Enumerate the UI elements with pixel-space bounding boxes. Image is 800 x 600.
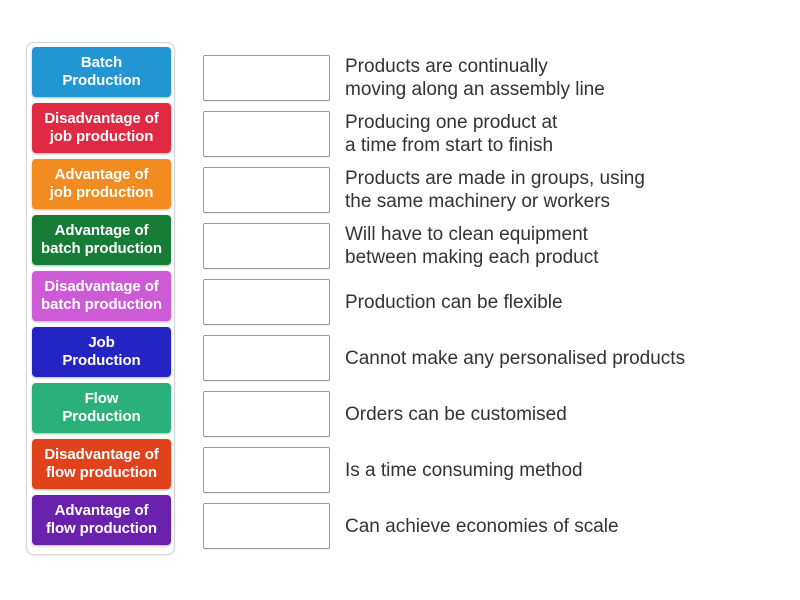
match-row: Products are continually moving along an… <box>203 55 793 101</box>
row-prompt-text: Products are continually moving along an… <box>345 55 605 101</box>
tile-label: Job Production <box>35 334 168 370</box>
row-prompt-text: Will have to clean equipment between mak… <box>345 223 599 269</box>
match-row: Can achieve economies of scale <box>203 503 793 549</box>
dropzone-5[interactable] <box>203 279 330 325</box>
row-prompt-text: Can achieve economies of scale <box>345 515 619 538</box>
row-prompt-text: Products are made in groups, using the s… <box>345 167 645 213</box>
tile-label: Advantage of job production <box>35 166 168 202</box>
tile-disadvantage-flow[interactable]: Disadvantage of flow production <box>32 439 171 489</box>
dropzone-7[interactable] <box>203 391 330 437</box>
tile-disadvantage-batch[interactable]: Disadvantage of batch production <box>32 271 171 321</box>
match-row: Production can be flexible <box>203 279 793 325</box>
match-row: Orders can be customised <box>203 391 793 437</box>
tile-label: Disadvantage of flow production <box>35 446 168 482</box>
tile-label: Disadvantage of batch production <box>35 278 168 314</box>
tile-disadvantage-job[interactable]: Disadvantage of job production <box>32 103 171 153</box>
dropzone-9[interactable] <box>203 503 330 549</box>
tile-tray: Batch ProductionDisadvantage of job prod… <box>26 42 175 555</box>
tile-job-production[interactable]: Job Production <box>32 327 171 377</box>
match-rows: Products are continually moving along an… <box>203 55 793 549</box>
match-row: Producing one product at a time from sta… <box>203 111 793 157</box>
tile-advantage-job[interactable]: Advantage of job production <box>32 159 171 209</box>
tile-advantage-batch[interactable]: Advantage of batch production <box>32 215 171 265</box>
match-row: Is a time consuming method <box>203 447 793 493</box>
match-row: Products are made in groups, using the s… <box>203 167 793 213</box>
tile-advantage-flow[interactable]: Advantage of flow production <box>32 495 171 545</box>
match-row: Cannot make any personalised products <box>203 335 793 381</box>
dropzone-2[interactable] <box>203 111 330 157</box>
dropzone-1[interactable] <box>203 55 330 101</box>
tile-label: Flow Production <box>35 390 168 426</box>
dropzone-8[interactable] <box>203 447 330 493</box>
row-prompt-text: Cannot make any personalised products <box>345 347 685 370</box>
dropzone-6[interactable] <box>203 335 330 381</box>
tile-batch-production[interactable]: Batch Production <box>32 47 171 97</box>
match-row: Will have to clean equipment between mak… <box>203 223 793 269</box>
tile-flow-production[interactable]: Flow Production <box>32 383 171 433</box>
dropzone-3[interactable] <box>203 167 330 213</box>
dropzone-4[interactable] <box>203 223 330 269</box>
tile-label: Disadvantage of job production <box>35 110 168 146</box>
tile-label: Batch Production <box>35 54 168 90</box>
match-up-board: Batch ProductionDisadvantage of job prod… <box>0 0 800 600</box>
tile-label: Advantage of flow production <box>35 502 168 538</box>
row-prompt-text: Is a time consuming method <box>345 459 583 482</box>
row-prompt-text: Production can be flexible <box>345 291 563 314</box>
row-prompt-text: Producing one product at a time from sta… <box>345 111 557 157</box>
row-prompt-text: Orders can be customised <box>345 403 567 426</box>
tile-label: Advantage of batch production <box>35 222 168 258</box>
